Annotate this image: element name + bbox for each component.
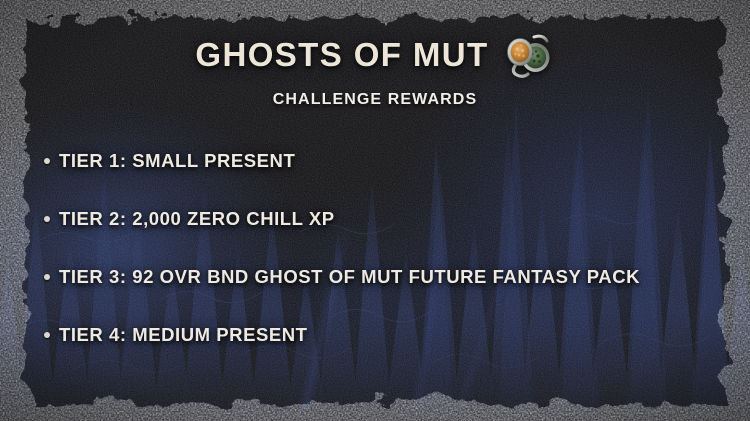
bullet-icon [44,274,50,280]
title-row: GHOSTS OF MUT [0,26,750,82]
page-subtitle: CHALLENGE REWARDS [0,91,750,109]
list-item: TIER 2: 2,000 ZERO CHILL XP [44,190,726,248]
list-item: TIER 4: MEDIUM PRESENT [44,306,726,364]
challenge-rewards-card: GHOSTS OF MUT [0,0,750,421]
card-header: GHOSTS OF MUT [0,26,750,109]
reward-label: TIER 3: 92 OVR BND GHOST OF MUT FUTURE F… [59,266,640,288]
list-item: TIER 3: 92 OVR BND GHOST OF MUT FUTURE F… [44,248,726,306]
reward-label: TIER 2: 2,000 ZERO CHILL XP [59,208,335,230]
locket-icon [501,28,555,82]
bullet-icon [44,158,50,164]
bullet-icon [44,332,50,338]
reward-label: TIER 4: MEDIUM PRESENT [59,324,308,346]
reward-label: TIER 1: SMALL PRESENT [59,150,295,172]
list-item: TIER 1: SMALL PRESENT [44,132,726,190]
page-title: GHOSTS OF MUT [195,38,488,71]
bullet-icon [44,216,50,222]
rewards-list: TIER 1: SMALL PRESENT TIER 2: 2,000 ZERO… [44,132,726,364]
